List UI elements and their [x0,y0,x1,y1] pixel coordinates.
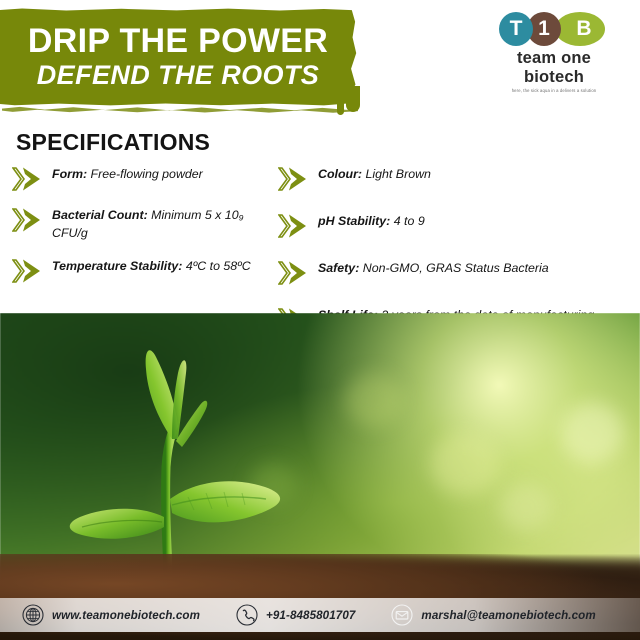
double-chevron-icon [278,166,312,192]
bokeh-spot [500,483,552,531]
specifications-left-column: Form: Free-flowing powder Bacterial Coun… [12,165,278,298]
spec-label-bacterial-count: Bacterial Count: [52,208,148,222]
spec-label-ph-stability: pH Stability: [318,214,390,228]
envelope-icon [391,604,413,626]
spec-value-form: Free-flowing powder [87,167,203,181]
double-chevron-icon [278,213,312,239]
spec-text-bacterial-count: Bacterial Count: Minimum 5 x 10₉ CFU/g [52,206,278,243]
spec-text-temperature-stability: Temperature Stability: 4ºC to 58ºC [52,257,251,276]
logo-company-name: team one biotech [490,49,618,87]
double-chevron-icon [12,207,46,233]
spec-value-colour: Light Brown [362,167,431,181]
poster-canvas: DRIP THE POWER DEFEND THE ROOTS T 1 B te… [0,0,640,640]
logo-circle-b: B [555,12,605,46]
spec-value-temperature-stability: 4ºC to 58ºC [182,259,250,273]
phone-icon [236,604,258,626]
spec-label-colour: Colour: [318,167,362,181]
spec-value-safety: Non-GMO, GRAS Status Bacteria [359,261,548,275]
bokeh-spot [430,433,500,495]
spec-item-temperature-stability: Temperature Stability: 4ºC to 58ºC [12,257,278,284]
spec-item-colour: Colour: Light Brown [278,165,638,192]
footer-email[interactable]: marshal@teamonebiotech.com [391,604,595,626]
footer-website[interactable]: www.teamonebiotech.com [22,604,200,626]
spec-item-ph-stability: pH Stability: 4 to 9 [278,212,638,239]
spec-item-bacterial-count: Bacterial Count: Minimum 5 x 10₉ CFU/g [12,206,278,243]
hero-photo [0,313,640,640]
bokeh-spot [345,373,403,427]
double-chevron-icon [12,166,46,192]
bokeh-spot [560,403,624,463]
footer-phone-text: +91-8485801707 [266,609,355,622]
double-chevron-icon [278,260,312,286]
banner-text-block: DRIP THE POWER DEFEND THE ROOTS [0,8,356,106]
poster-title: DRIP THE POWER [28,24,328,59]
spec-text-ph-stability: pH Stability: 4 to 9 [318,212,425,231]
spec-item-form: Form: Free-flowing powder [12,165,278,192]
poster-subtitle: DEFEND THE ROOTS [37,61,319,89]
double-chevron-icon [12,258,46,284]
spec-label-temperature-stability: Temperature Stability: [52,259,182,273]
logo-circle-t: T [499,12,533,46]
company-logo[interactable]: T 1 B team one biotech here, the sick aq… [490,12,618,93]
spec-text-form: Form: Free-flowing powder [52,165,203,184]
spec-item-safety: Safety: Non-GMO, GRAS Status Bacteria [278,259,638,286]
spec-text-colour: Colour: Light Brown [318,165,431,184]
footer-phone[interactable]: +91-8485801707 [236,604,355,626]
seedling-illustration [60,347,310,582]
spec-text-safety: Safety: Non-GMO, GRAS Status Bacteria [318,259,549,278]
globe-icon [22,604,44,626]
header-banner: DRIP THE POWER DEFEND THE ROOTS [0,8,368,106]
footer-website-text: www.teamonebiotech.com [52,609,200,622]
specifications-heading: SPECIFICATIONS [16,129,210,156]
logo-circles: T 1 B [499,12,609,46]
footer-email-text: marshal@teamonebiotech.com [421,609,595,622]
spec-label-form: Form: [52,167,87,181]
logo-tagline: here, the sick aqua in a delivers a solu… [490,88,618,93]
banner-brush-stroke [2,106,358,113]
spec-value-ph-stability: 4 to 9 [390,214,424,228]
spec-label-safety: Safety: [318,261,359,275]
contact-footer: www.teamonebiotech.com +91-8485801707 ma… [0,598,640,632]
